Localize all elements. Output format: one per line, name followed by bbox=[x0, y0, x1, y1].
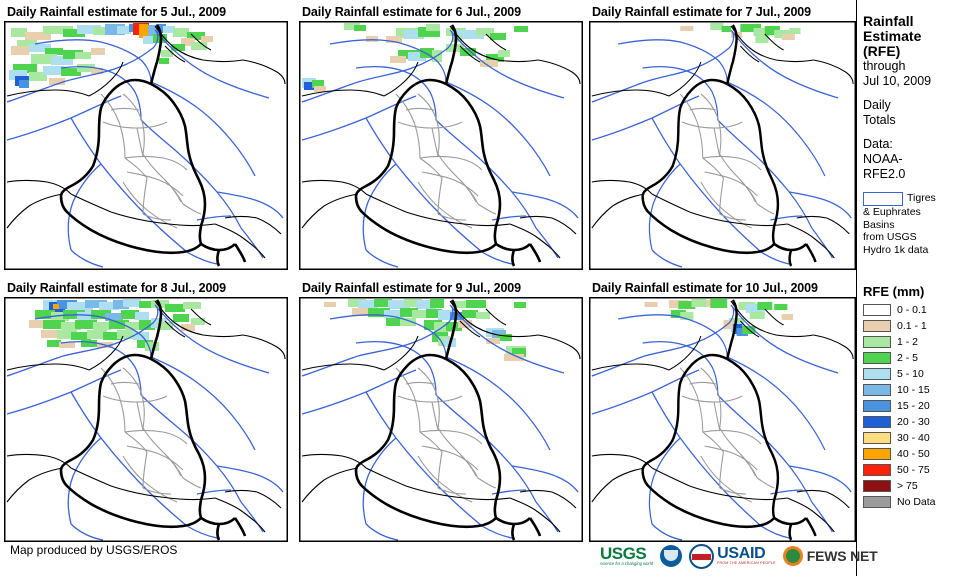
agency-logos: USGS science for a changing world USAID … bbox=[600, 540, 884, 572]
usaid-logo: USAID FROM THE AMERICAN PEOPLE bbox=[689, 544, 776, 569]
panel-title: Daily Rainfall estimate for 8 Jul., 2009 bbox=[4, 280, 290, 297]
usgs-logo-tagline: science for a changing world bbox=[600, 561, 653, 566]
map-credit: Map produced by USGS/EROS bbox=[10, 543, 177, 557]
noaa-logo bbox=[660, 545, 682, 567]
basin-label-2: & Euphrates bbox=[863, 206, 967, 219]
rfe-legend-swatch bbox=[863, 352, 891, 364]
rfe-legend-label: 5 - 10 bbox=[897, 368, 924, 380]
rfe-legend-label: 50 - 75 bbox=[897, 464, 930, 476]
rfe-legend-list: 0 - 0.10.1 - 11 - 22 - 55 - 1010 - 1515 … bbox=[863, 302, 967, 509]
rfe-legend-label: > 75 bbox=[897, 480, 918, 492]
basin-label-4: from USGS bbox=[863, 231, 967, 244]
fews-logo-text: FEWS NET bbox=[807, 548, 878, 564]
rfe-legend-swatch bbox=[863, 464, 891, 476]
panel-title: Daily Rainfall estimate for 7 Jul., 2009 bbox=[589, 4, 859, 21]
rfe-legend-swatch bbox=[863, 304, 891, 316]
data-source-line1: Data: bbox=[863, 137, 967, 152]
panel-title: Daily Rainfall estimate for 6 Jul., 2009 bbox=[299, 4, 585, 21]
rfe-legend-swatch bbox=[863, 416, 891, 428]
usgs-logo: USGS science for a changing world bbox=[600, 546, 653, 566]
spacer bbox=[863, 128, 967, 137]
rfe-legend-item: 15 - 20 bbox=[863, 398, 967, 413]
data-source-line2: NOAA- bbox=[863, 152, 967, 167]
map-render bbox=[300, 298, 582, 541]
rfe-legend-swatch bbox=[863, 400, 891, 412]
map-render bbox=[5, 298, 287, 541]
legend-title-line2: Estimate bbox=[863, 29, 967, 44]
rfe-legend-label: 30 - 40 bbox=[897, 432, 930, 444]
map-render bbox=[5, 22, 287, 269]
rfe-legend-item: 20 - 30 bbox=[863, 414, 967, 429]
rfe-legend-item: No Data bbox=[863, 494, 967, 509]
rfe-map-page: Daily Rainfall estimate for 5 Jul., 2009 bbox=[0, 0, 967, 576]
rfe-legend-label: 2 - 5 bbox=[897, 352, 918, 364]
rfe-legend-swatch bbox=[863, 496, 891, 508]
panel-title: Daily Rainfall estimate for 10 Jul., 200… bbox=[589, 280, 859, 297]
basin-legend-row: Tigres bbox=[863, 192, 967, 206]
map-box[interactable] bbox=[4, 21, 288, 270]
legend-through-date: Jul 10, 2009 bbox=[863, 74, 967, 89]
basin-legend: Tigres & Euphrates Basins from USGS Hydr… bbox=[863, 192, 967, 256]
legend-title-line1: Rainfall bbox=[863, 14, 967, 29]
map-box[interactable] bbox=[589, 21, 856, 270]
basin-label-3: Basins bbox=[863, 219, 967, 232]
basin-swatch bbox=[863, 192, 903, 206]
panel-9-jul[interactable]: Daily Rainfall estimate for 9 Jul., 2009 bbox=[299, 280, 585, 542]
panel-5-jul[interactable]: Daily Rainfall estimate for 5 Jul., 2009 bbox=[4, 4, 290, 272]
rfe-legend-swatch bbox=[863, 480, 891, 492]
rfe-legend-swatch bbox=[863, 320, 891, 332]
rfe-legend-label: 15 - 20 bbox=[897, 400, 930, 412]
totals-line1: Daily bbox=[863, 98, 967, 113]
rfe-legend-item: 2 - 5 bbox=[863, 350, 967, 365]
usaid-logo-text: USAID bbox=[717, 547, 776, 561]
rfe-legend-swatch bbox=[863, 336, 891, 348]
usaid-seal-icon bbox=[689, 544, 714, 569]
map-render bbox=[590, 22, 855, 269]
rfe-legend-item: 30 - 40 bbox=[863, 430, 967, 445]
rfe-legend-label: 0 - 0.1 bbox=[897, 304, 927, 316]
panel-title: Daily Rainfall estimate for 5 Jul., 2009 bbox=[4, 4, 290, 21]
panel-10-jul[interactable]: Daily Rainfall estimate for 10 Jul., 200… bbox=[589, 280, 859, 542]
rfe-legend-item: > 75 bbox=[863, 478, 967, 493]
panel-title: Daily Rainfall estimate for 9 Jul., 2009 bbox=[299, 280, 585, 297]
usaid-logo-tagline: FROM THE AMERICAN PEOPLE bbox=[717, 561, 776, 566]
rfe-legend-label: 1 - 2 bbox=[897, 336, 918, 348]
legend-through-label: through bbox=[863, 59, 967, 74]
rfe-legend-label: 40 - 50 bbox=[897, 448, 930, 460]
panel-8-jul[interactable]: Daily Rainfall estimate for 8 Jul., 2009 bbox=[4, 280, 290, 542]
rfe-legend-item: 1 - 2 bbox=[863, 334, 967, 349]
basin-label-1: Tigres bbox=[907, 192, 936, 204]
rfe-legend-item: 0 - 0.1 bbox=[863, 302, 967, 317]
rfe-legend-item: 50 - 75 bbox=[863, 462, 967, 477]
spacer bbox=[863, 89, 967, 98]
basin-label-5: Hydro 1k data bbox=[863, 244, 967, 257]
totals-line2: Totals bbox=[863, 113, 967, 128]
rfe-legend-swatch bbox=[863, 368, 891, 380]
legend-title-line3: (RFE) bbox=[863, 44, 967, 59]
map-render bbox=[590, 298, 855, 541]
rfe-legend-swatch bbox=[863, 448, 891, 460]
rfe-legend-swatch bbox=[863, 432, 891, 444]
panel-6-jul[interactable]: Daily Rainfall estimate for 6 Jul., 2009 bbox=[299, 4, 585, 272]
map-render bbox=[300, 22, 582, 269]
map-box[interactable] bbox=[299, 297, 583, 542]
rfe-legend-item: 0.1 - 1 bbox=[863, 318, 967, 333]
legend-sidebar: Rainfall Estimate (RFE) through Jul 10, … bbox=[856, 0, 967, 576]
rfe-legend-item: 40 - 50 bbox=[863, 446, 967, 461]
rfe-legend-item: 10 - 15 bbox=[863, 382, 967, 397]
panel-7-jul[interactable]: Daily Rainfall estimate for 7 Jul., 2009 bbox=[589, 4, 859, 272]
rfe-legend-label: 20 - 30 bbox=[897, 416, 930, 428]
map-box[interactable] bbox=[299, 21, 583, 270]
fews-globe-icon bbox=[783, 546, 803, 566]
rfe-legend-label: 0.1 - 1 bbox=[897, 320, 927, 332]
rfe-legend-title: RFE (mm) bbox=[863, 284, 967, 299]
rfe-legend-label: 10 - 15 bbox=[897, 384, 930, 396]
map-box[interactable] bbox=[4, 297, 288, 542]
rfe-legend-label: No Data bbox=[897, 496, 936, 508]
fews-net-logo: FEWS NET bbox=[783, 546, 878, 566]
rfe-legend-swatch bbox=[863, 384, 891, 396]
data-source-line3: RFE2.0 bbox=[863, 167, 967, 182]
map-box[interactable] bbox=[589, 297, 856, 542]
map-panel-grid: Daily Rainfall estimate for 5 Jul., 2009 bbox=[0, 0, 856, 540]
noaa-seal-icon bbox=[660, 545, 682, 567]
rfe-legend-item: 5 - 10 bbox=[863, 366, 967, 381]
